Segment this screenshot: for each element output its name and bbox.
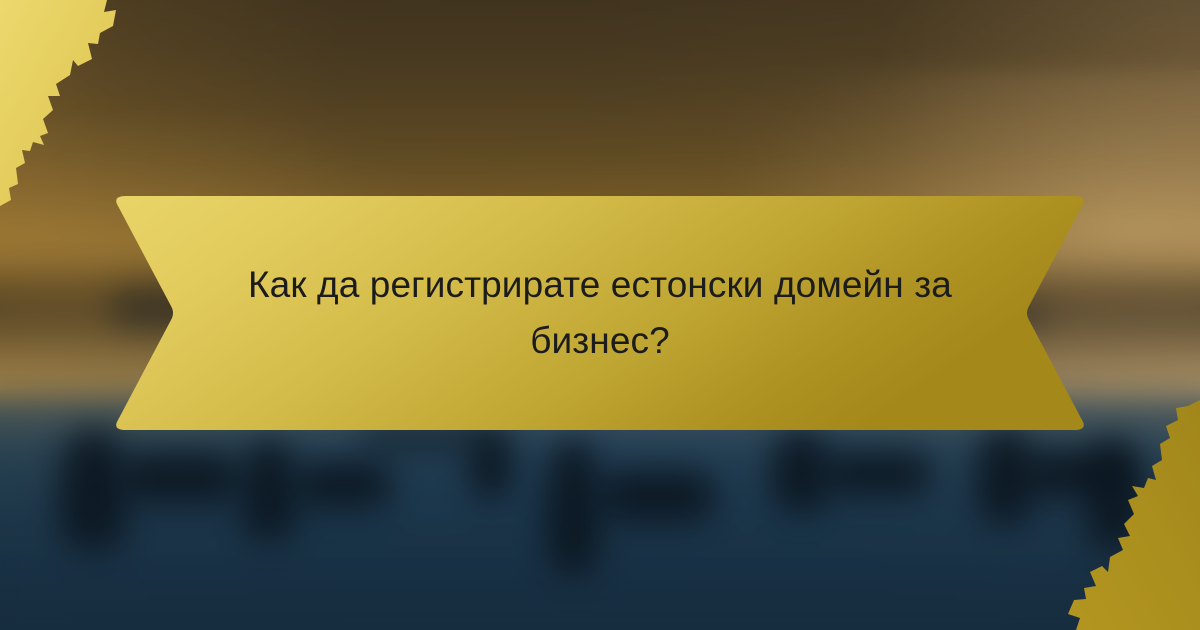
page-title: Как да регистрирате естонски домейн за б…	[190, 257, 1010, 369]
og-image-card: Как да регистрирате естонски домейн за б…	[0, 0, 1200, 630]
title-ribbon-banner: Как да регистрирате естонски домейн за б…	[104, 196, 1096, 430]
